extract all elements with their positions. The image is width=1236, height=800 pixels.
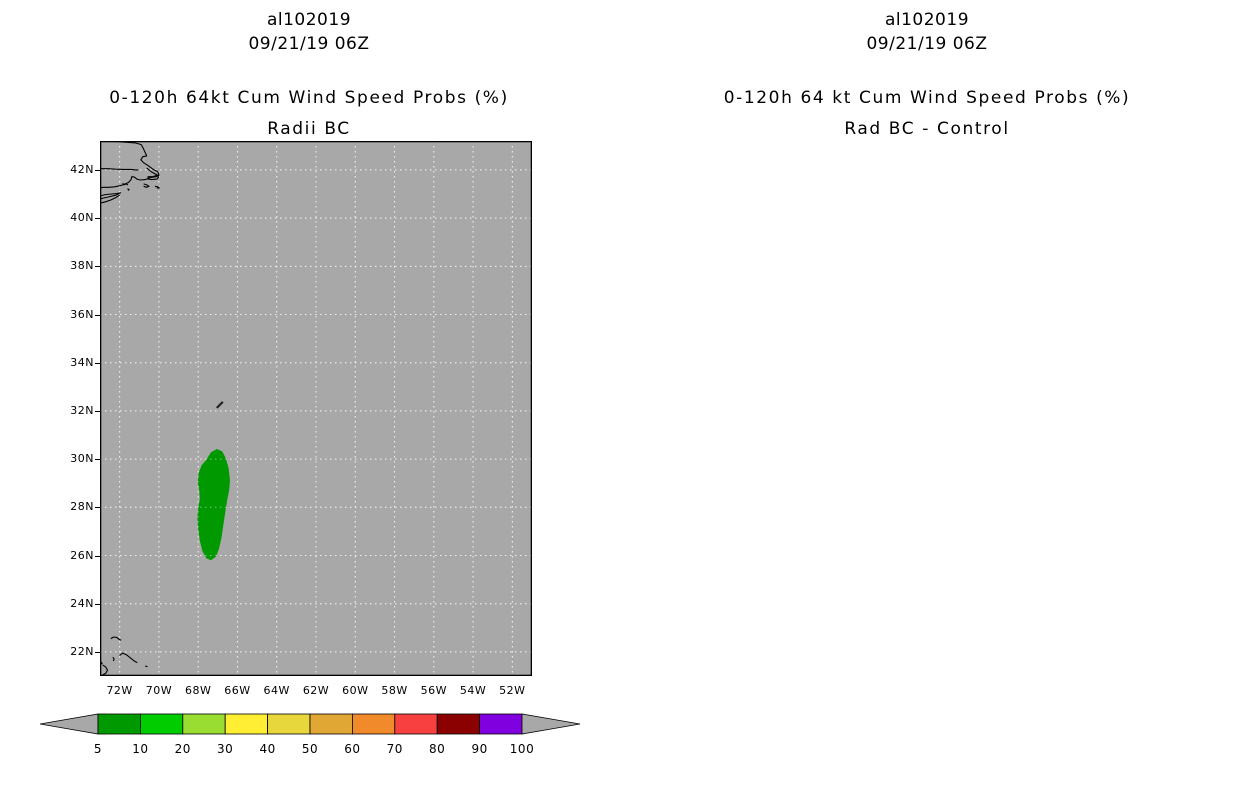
x-tick-label: 52W bbox=[492, 684, 532, 697]
colorbar-tick-label: 70 bbox=[375, 742, 415, 756]
storm-id-right: al102019 bbox=[618, 10, 1236, 30]
y-tick-mark bbox=[95, 315, 100, 316]
chart-subtitle-left: Radii BC bbox=[0, 119, 618, 139]
colorbar-cap-high bbox=[522, 714, 580, 734]
x-tick-label: 68W bbox=[178, 684, 218, 697]
y-tick-label: 36N bbox=[60, 308, 94, 321]
x-tick-label: 64W bbox=[257, 684, 297, 697]
x-tick-label: 56W bbox=[414, 684, 454, 697]
y-tick-mark bbox=[95, 218, 100, 219]
y-tick-mark bbox=[95, 604, 100, 605]
x-tick-label: 66W bbox=[217, 684, 257, 697]
colorbar-swatch bbox=[98, 714, 140, 734]
colorbar-tick-label: 20 bbox=[163, 742, 203, 756]
y-tick-mark bbox=[95, 652, 100, 653]
storm-id-left: al102019 bbox=[0, 10, 618, 30]
y-tick-mark bbox=[95, 170, 100, 171]
colorbar-cap-low bbox=[40, 714, 98, 734]
y-tick-label: 22N bbox=[60, 645, 94, 658]
y-tick-label: 42N bbox=[60, 163, 94, 176]
colorbar-swatch bbox=[480, 714, 522, 734]
colorbar-tick-label: 60 bbox=[332, 742, 372, 756]
x-tick-label: 72W bbox=[100, 684, 140, 697]
colorbar-swatch bbox=[225, 714, 267, 734]
colorbar-tick-label: 90 bbox=[460, 742, 500, 756]
chart-title-left: 0-120h 64kt Cum Wind Speed Probs (%) bbox=[0, 88, 618, 108]
y-tick-label: 40N bbox=[60, 211, 94, 224]
panel-radii-bc: al102019 09/21/19 06Z 0-120h 64kt Cum Wi… bbox=[0, 0, 618, 800]
y-tick-mark bbox=[95, 556, 100, 557]
x-tick-label: 58W bbox=[375, 684, 415, 697]
colorbar-probability: 5102030405060708090100 bbox=[40, 712, 580, 772]
x-tick-label: 62W bbox=[296, 684, 336, 697]
y-tick-mark bbox=[95, 266, 100, 267]
y-tick-label: 24N bbox=[60, 597, 94, 610]
y-tick-label: 28N bbox=[60, 500, 94, 513]
colorbar-swatch bbox=[183, 714, 225, 734]
colorbar-swatch bbox=[437, 714, 479, 734]
x-tick-label: 54W bbox=[453, 684, 493, 697]
map-plot-radii-bc[interactable] bbox=[100, 141, 532, 676]
chart-subtitle-right: Rad BC - Control bbox=[618, 119, 1236, 139]
colorbar-tick-label: 30 bbox=[205, 742, 245, 756]
datetime-right: 09/21/19 06Z bbox=[618, 34, 1236, 54]
colorbar-tick-label: 50 bbox=[290, 742, 330, 756]
y-tick-label: 38N bbox=[60, 259, 94, 272]
y-tick-label: 30N bbox=[60, 452, 94, 465]
x-tick-label: 60W bbox=[335, 684, 375, 697]
y-tick-mark bbox=[95, 459, 100, 460]
y-tick-label: 32N bbox=[60, 404, 94, 417]
chart-title-right: 0-120h 64 kt Cum Wind Speed Probs (%) bbox=[618, 88, 1236, 108]
y-tick-mark bbox=[95, 363, 100, 364]
colorbar-tick-label: 40 bbox=[248, 742, 288, 756]
y-tick-label: 26N bbox=[60, 549, 94, 562]
colorbar-tick-label: 5 bbox=[78, 742, 118, 756]
y-tick-mark bbox=[95, 411, 100, 412]
colorbar-swatch bbox=[352, 714, 394, 734]
colorbar-tick-label: 10 bbox=[120, 742, 160, 756]
colorbar-swatch bbox=[268, 714, 310, 734]
colorbar-swatch bbox=[395, 714, 437, 734]
y-tick-label: 34N bbox=[60, 356, 94, 369]
colorbar-tick-label: 100 bbox=[502, 742, 542, 756]
panel-rad-bc-minus-control: al102019 09/21/19 06Z 0-120h 64 kt Cum W… bbox=[618, 0, 1236, 800]
colorbar-swatch bbox=[310, 714, 352, 734]
datetime-left: 09/21/19 06Z bbox=[0, 34, 618, 54]
x-tick-label: 70W bbox=[139, 684, 179, 697]
y-tick-mark bbox=[95, 507, 100, 508]
colorbar-tick-label: 80 bbox=[417, 742, 457, 756]
colorbar-swatch bbox=[140, 714, 182, 734]
